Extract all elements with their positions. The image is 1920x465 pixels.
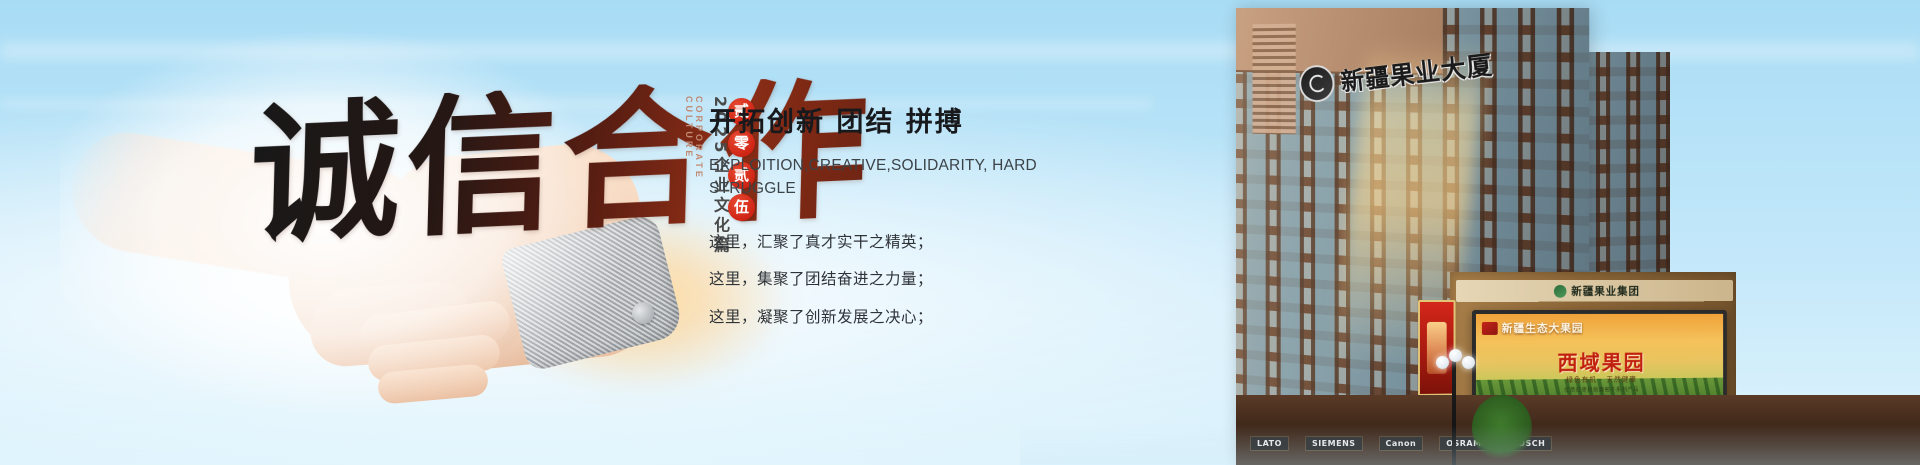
lamp-globe [1462, 356, 1475, 369]
billboard-top-text: 新疆生态大果园 [1502, 320, 1584, 336]
company-logo-icon [1297, 63, 1336, 104]
copy-block: 开拓创新 团结 拼搏 EXPLOITION,CREATIVE,SOLIDARIT… [709, 100, 1039, 347]
billboard-logo-icon [1482, 321, 1498, 334]
building-photo: 新疆果业大厦 新疆果业集团 新疆生态大果园 西域果园 绿色有机 · 天然健康 优… [1020, 0, 1920, 465]
group-logo-icon [1554, 284, 1567, 297]
roof-sign-text: 新疆果业大厦 [1339, 45, 1495, 98]
subtitle-english: EXPLOITION,CREATIVE,SOLIDARITY, HARD STR… [709, 155, 1039, 201]
podium-sign-text: 新疆果业集团 [1571, 283, 1640, 299]
body-line: 这里，汇聚了真才实干之精英； [709, 235, 1039, 251]
building-louver-panel [1253, 24, 1296, 135]
vertical-ad-banner [1418, 300, 1456, 396]
lamp-globe [1436, 356, 1449, 369]
vertical-label-english: CORPORATE CULTURE [684, 96, 704, 246]
podium-sign: 新疆果业集团 [1456, 280, 1733, 302]
street-lamp-head [1436, 351, 1474, 369]
page-title: 开拓创新 团结 拼搏 [709, 100, 1039, 139]
lamp-globe [1449, 349, 1462, 362]
body-line: 这里，集聚了团结奋进之力量； [709, 272, 1039, 288]
ground-haze [1020, 425, 1920, 465]
billboard-top-row: 新疆生态大果园 [1482, 320, 1718, 336]
body-line: 这里，凝聚了创新发展之决心； [709, 310, 1039, 326]
corporate-culture-banner: 诚信合作 CORPORATE CULTURE 2025企业文化篇 贰 零 贰 伍… [0, 0, 1920, 465]
